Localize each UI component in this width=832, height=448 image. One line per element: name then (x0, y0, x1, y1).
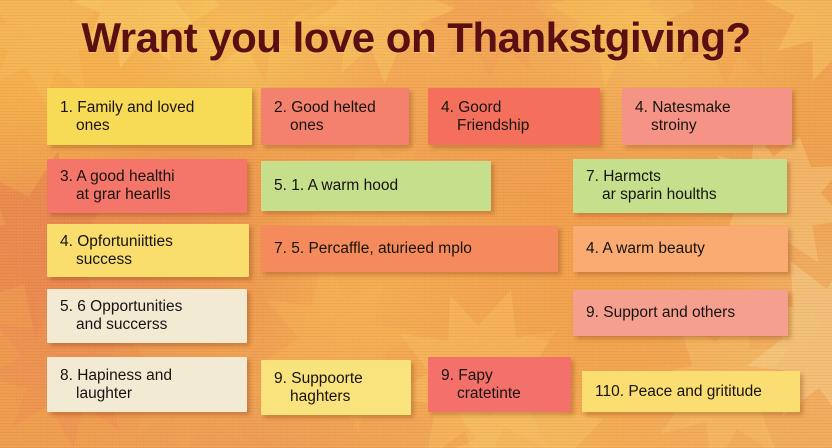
note-card[interactable]: 4. Natesmakestroiny (622, 88, 792, 145)
note-card-line-1: 2. Good helted (274, 99, 376, 117)
note-card-line-1: 4. Natesmake (635, 99, 731, 117)
note-card-line-1: 1. Family and loved (60, 99, 194, 117)
note-card-text: 1. Family and lovedones (60, 99, 194, 135)
note-card-line-2: stroiny (635, 117, 731, 135)
note-card-line-2: at grar hearlls (60, 186, 175, 204)
note-card-text: 2. Good heltedones (274, 99, 376, 135)
note-card[interactable]: 9. Suppoortehaghters (261, 360, 411, 415)
note-card-line-1: 9. Fapy (441, 367, 521, 385)
note-card-line-2: ones (274, 117, 376, 135)
thanksgiving-poster: Wrant you love on Thankstgiving? 1. Fami… (0, 0, 832, 448)
note-card-line-1: 7. Harmcts (586, 168, 717, 186)
note-card-text: 3. A good healthiat grar hearlls (60, 168, 175, 204)
note-card-text: 9. Support and others (586, 304, 735, 322)
note-card-line-1: 8. Hapiness and (60, 367, 172, 385)
note-card[interactable]: 7. Harmctsar sparin houlths (573, 159, 787, 213)
note-card[interactable]: 1. Family and lovedones (47, 88, 252, 145)
note-card-line-1: 5. 6 Opportunities (60, 298, 182, 316)
note-card-line-2: cratetinte (441, 385, 521, 403)
note-card[interactable]: 9. Support and others (573, 290, 788, 336)
note-card[interactable]: 3. A good healthiat grar hearlls (47, 159, 247, 213)
note-card[interactable]: 2. Good heltedones (261, 88, 409, 145)
note-card-text: 5. 6 Opportunitiesand succerss (60, 298, 182, 334)
note-card-line-1: 7. 5. Percaffle, aturieed mplo (274, 240, 472, 258)
note-card-text: 8. Hapiness andlaughter (60, 367, 172, 403)
note-card[interactable]: 5. 1. A warm hood (261, 161, 491, 211)
note-card[interactable]: 4. A warm beauty (573, 226, 788, 272)
note-card[interactable]: 5. 6 Opportunitiesand succerss (47, 289, 247, 343)
note-card[interactable]: 110. Peace and grititude (582, 371, 800, 412)
note-card-line-1: 4. Opfortuniitties (60, 233, 173, 251)
note-card-line-1: 9. Support and others (586, 304, 735, 322)
note-card-line-1: 4. A warm beauty (586, 240, 705, 258)
note-card[interactable]: 4. Opfortuniittiessuccess (47, 224, 249, 277)
note-card-line-2: Friendship (441, 117, 529, 135)
page-title: Wrant you love on Thankstgiving? (0, 14, 832, 62)
note-card-line-1: 9. Suppoorte (274, 370, 363, 388)
note-card[interactable]: 8. Hapiness andlaughter (47, 357, 247, 412)
note-card-line-1: 5. 1. A warm hood (274, 177, 398, 195)
note-card-line-2: laughter (60, 385, 172, 403)
note-card-text: 9. Suppoortehaghters (274, 370, 363, 406)
note-card-text: 9. Fapycratetinte (441, 367, 521, 403)
note-card-line-1: 3. A good healthi (60, 168, 175, 186)
note-card-text: 7. Harmctsar sparin houlths (586, 168, 717, 204)
note-card-text: 4. Opfortuniittiessuccess (60, 233, 173, 269)
note-card-text: 4. Natesmakestroiny (635, 99, 731, 135)
note-card-text: 4. A warm beauty (586, 240, 705, 258)
note-card-text: 5. 1. A warm hood (274, 177, 398, 195)
note-card-line-1: 110. Peace and grititude (595, 383, 762, 401)
note-card-text: 4. GoordFriendship (441, 99, 529, 135)
note-card-text: 110. Peace and grititude (595, 383, 762, 401)
note-card-line-2: ones (60, 117, 194, 135)
note-card-line-2: success (60, 251, 173, 269)
note-card[interactable]: 9. Fapycratetinte (428, 357, 571, 412)
note-card-line-1: 4. Goord (441, 99, 529, 117)
note-card-line-2: and succerss (60, 316, 182, 334)
note-card-line-2: haghters (274, 388, 363, 406)
note-card-text: 7. 5. Percaffle, aturieed mplo (274, 240, 472, 258)
note-card[interactable]: 4. GoordFriendship (428, 88, 600, 145)
note-card[interactable]: 7. 5. Percaffle, aturieed mplo (261, 226, 558, 272)
note-card-line-2: ar sparin houlths (586, 186, 717, 204)
